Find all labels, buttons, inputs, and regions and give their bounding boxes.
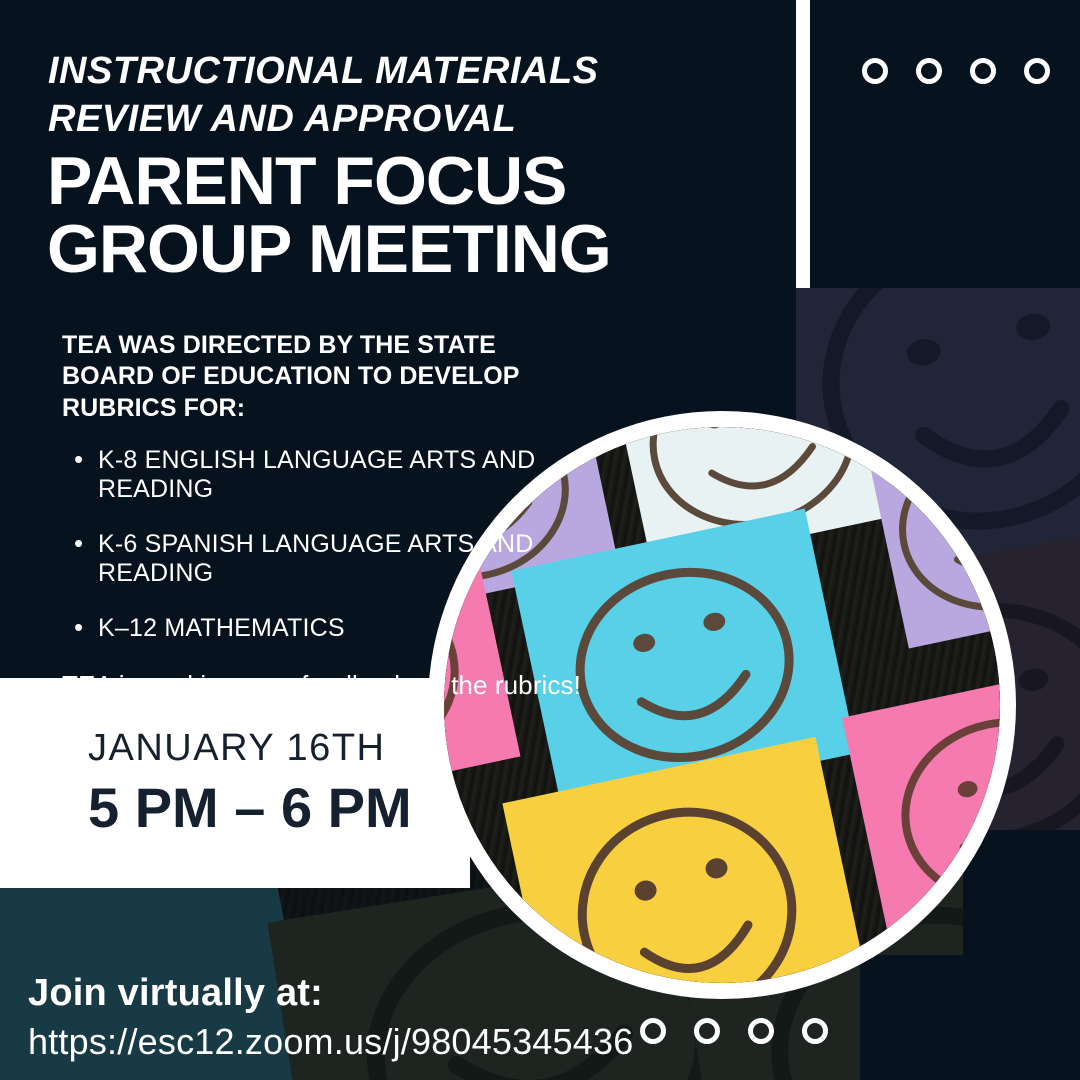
navy-top-right-panel [810,0,1080,288]
join-url-link[interactable]: https://esc12.zoom.us/j/98045345436 [28,1020,633,1063]
ring-outline-icon [916,58,942,84]
join-block: Join virtually at: https://esc12.zoom.us… [28,972,633,1063]
ring-outline-icon [862,58,888,84]
list-item: K-6 SPANISH LANGUAGE ARTS AND READING [98,530,582,588]
ring-outline-icon [970,58,996,84]
rubrics-list: K-8 ENGLISH LANGUAGE ARTS AND READING K-… [62,446,582,643]
decorative-dots-bottom [640,1018,828,1044]
lead-paragraph: TEA WAS DIRECTED BY THE STATE BOARD OF E… [62,330,582,424]
ring-outline-icon [1024,58,1050,84]
ring-outline-icon [748,1018,774,1044]
poster-canvas: INSTRUCTIONAL MATERIALS REVIEW AND APPRO… [0,0,1080,1080]
kicker-text: INSTRUCTIONAL MATERIALS REVIEW AND APPRO… [48,48,748,143]
white-vertical-strip [796,0,810,288]
list-item: K–12 MATHEMATICS [98,614,582,643]
event-time: 5 PM – 6 PM [88,776,412,840]
decorative-dots-top [862,58,1050,84]
event-date: JANUARY 16TH [88,728,412,770]
ring-outline-icon [640,1018,666,1044]
feedback-note: TEA is seeking your feedback on the rubr… [62,669,582,702]
ring-outline-icon [694,1018,720,1044]
join-label: Join virtually at: [28,972,633,1016]
event-datetime-block: JANUARY 16TH 5 PM – 6 PM [88,728,412,840]
ring-outline-icon [802,1018,828,1044]
list-item: K-8 ENGLISH LANGUAGE ARTS AND READING [98,446,582,504]
body-copy-block: TEA WAS DIRECTED BY THE STATE BOARD OF E… [62,330,582,701]
page-title: PARENT FOCUS GROUP MEETING [47,147,767,283]
